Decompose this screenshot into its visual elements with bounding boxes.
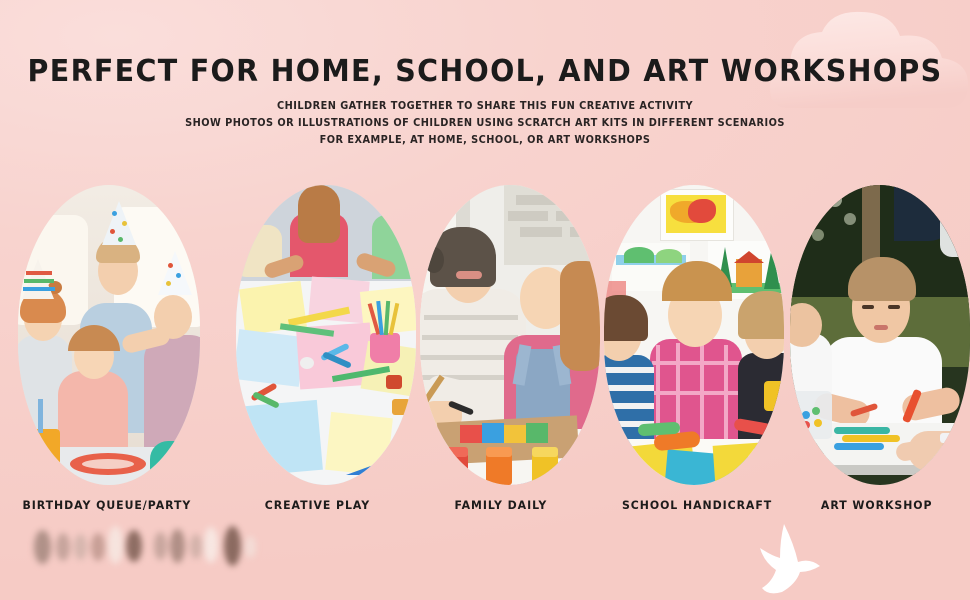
caption-family: FAMILY DAILY [454,498,547,512]
scenario-card-birthday[interactable] [18,185,200,485]
scenario-card-family-daily[interactable] [420,185,600,485]
caption-birthday: BIRTHDAY QUEUE/PARTY [22,498,191,512]
decorative-ovals [34,524,244,568]
photo-school-handicraft [604,185,784,485]
subtitle-line-3: FOR EXAMPLE, AT HOME, SCHOOL, OR ART WOR… [34,134,936,146]
photo-art-workshop [790,185,970,485]
caption-row: BIRTHDAY QUEUE/PARTY CREATIVE PLAY FAMIL… [0,498,970,520]
caption-creative: CREATIVE PLAY [265,498,370,512]
scenario-card-art-workshop[interactable] [790,185,970,485]
photo-family-daily [420,185,600,485]
subtitle-line-2: SHOW PHOTOS OR ILLUSTRATIONS OF CHILDREN… [34,117,936,129]
caption-school: SCHOOL HANDICRAFT [622,498,772,512]
subtitle-line-1: CHILDREN GATHER TOGETHER TO SHARE THIS F… [34,100,936,112]
dove-icon [754,522,834,596]
scenario-card-creative-play[interactable] [236,185,416,485]
promo-banner: PERFECT FOR HOME, SCHOOL, AND ART WORKSH… [0,0,970,600]
photo-birthday-party [18,185,200,485]
caption-workshop: ART WORKSHOP [821,498,933,512]
page-title: PERFECT FOR HOME, SCHOOL, AND ART WORKSH… [24,54,946,89]
scenario-card-school-handicraft[interactable] [604,185,784,485]
photo-creative-play [236,185,416,485]
scenario-card-row [0,185,970,485]
